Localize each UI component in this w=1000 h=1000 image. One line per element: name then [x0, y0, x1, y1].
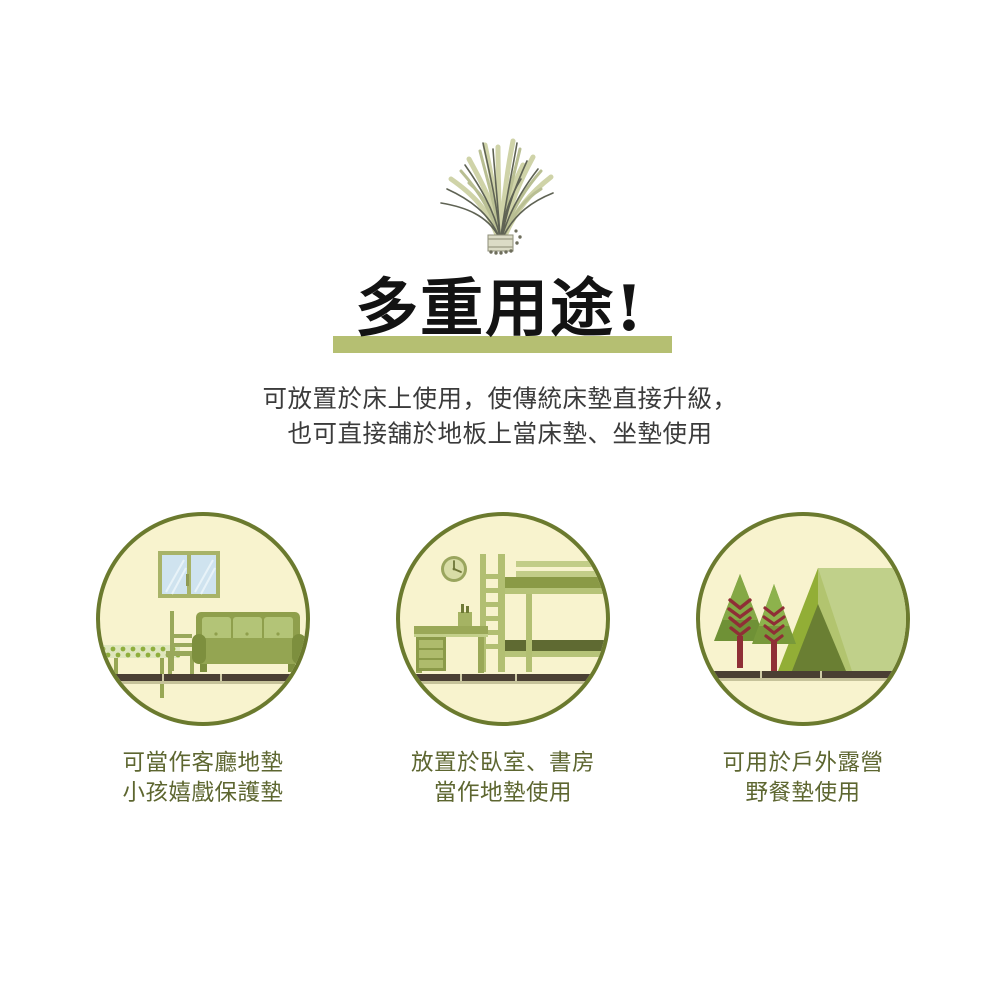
usage-caption-living-room: 可當作客廳地墊 小孩嬉戲保護墊 — [53, 748, 353, 808]
wall-clock-icon — [441, 556, 467, 582]
window-icon — [158, 551, 220, 598]
bedroom-study-illustration — [400, 516, 606, 722]
scene-circle-bedroom-study — [396, 512, 610, 726]
usage-cards: 可當作客廳地墊 小孩嬉戲保護墊 — [0, 512, 1000, 812]
caption-line-2: 野餐墊使用 — [653, 778, 953, 808]
pine-tree-icon — [714, 574, 766, 668]
caption-line-1: 可當作客廳地墊 — [53, 748, 353, 778]
floor-mat — [712, 671, 894, 681]
sofa-icon — [192, 612, 306, 672]
caption-line-1: 可用於戶外露營 — [653, 748, 953, 778]
usage-card-living-room: 可當作客廳地墊 小孩嬉戲保護墊 — [53, 512, 353, 812]
subtitle-line-2: 也可直接舖於地板上當床墊、坐墊使用 — [0, 417, 1000, 452]
grass-bundle-icon — [425, 123, 575, 258]
camping-illustration — [700, 516, 906, 722]
promo-page: 多重用途! 可放置於床上使用，使傳統床墊直接升級， 也可直接舖於地板上當床墊、坐… — [0, 0, 1000, 1000]
usage-card-camping: 可用於戶外露營 野餐墊使用 — [653, 512, 953, 812]
page-title: 多重用途! — [0, 268, 1000, 364]
hero-image — [0, 118, 1000, 258]
usage-caption-camping: 可用於戶外露營 野餐墊使用 — [653, 748, 953, 808]
title-text: 多重用途! — [0, 268, 1000, 348]
floor-mat — [412, 674, 594, 684]
usage-card-bedroom-study: 放置於臥室、書房 當作地墊使用 — [353, 512, 653, 812]
caption-line-1: 放置於臥室、書房 — [353, 748, 653, 778]
chair-icon — [166, 611, 196, 676]
caption-line-2: 小孩嬉戲保護墊 — [53, 778, 353, 808]
scene-circle-living-room — [96, 512, 310, 726]
caption-line-2: 當作地墊使用 — [353, 778, 653, 808]
scene-circle-camping — [696, 512, 910, 726]
living-room-illustration — [100, 516, 306, 722]
subtitle: 可放置於床上使用，使傳統床墊直接升級， 也可直接舖於地板上當床墊、坐墊使用 — [0, 382, 1000, 452]
desk-icon — [414, 604, 488, 673]
bunk-bed-icon — [480, 554, 606, 672]
floor-mat — [110, 674, 306, 684]
subtitle-line-1: 可放置於床上使用，使傳統床墊直接升級， — [0, 382, 1000, 417]
usage-caption-bedroom-study: 放置於臥室、書房 當作地墊使用 — [353, 748, 653, 808]
tent-icon — [778, 568, 906, 671]
